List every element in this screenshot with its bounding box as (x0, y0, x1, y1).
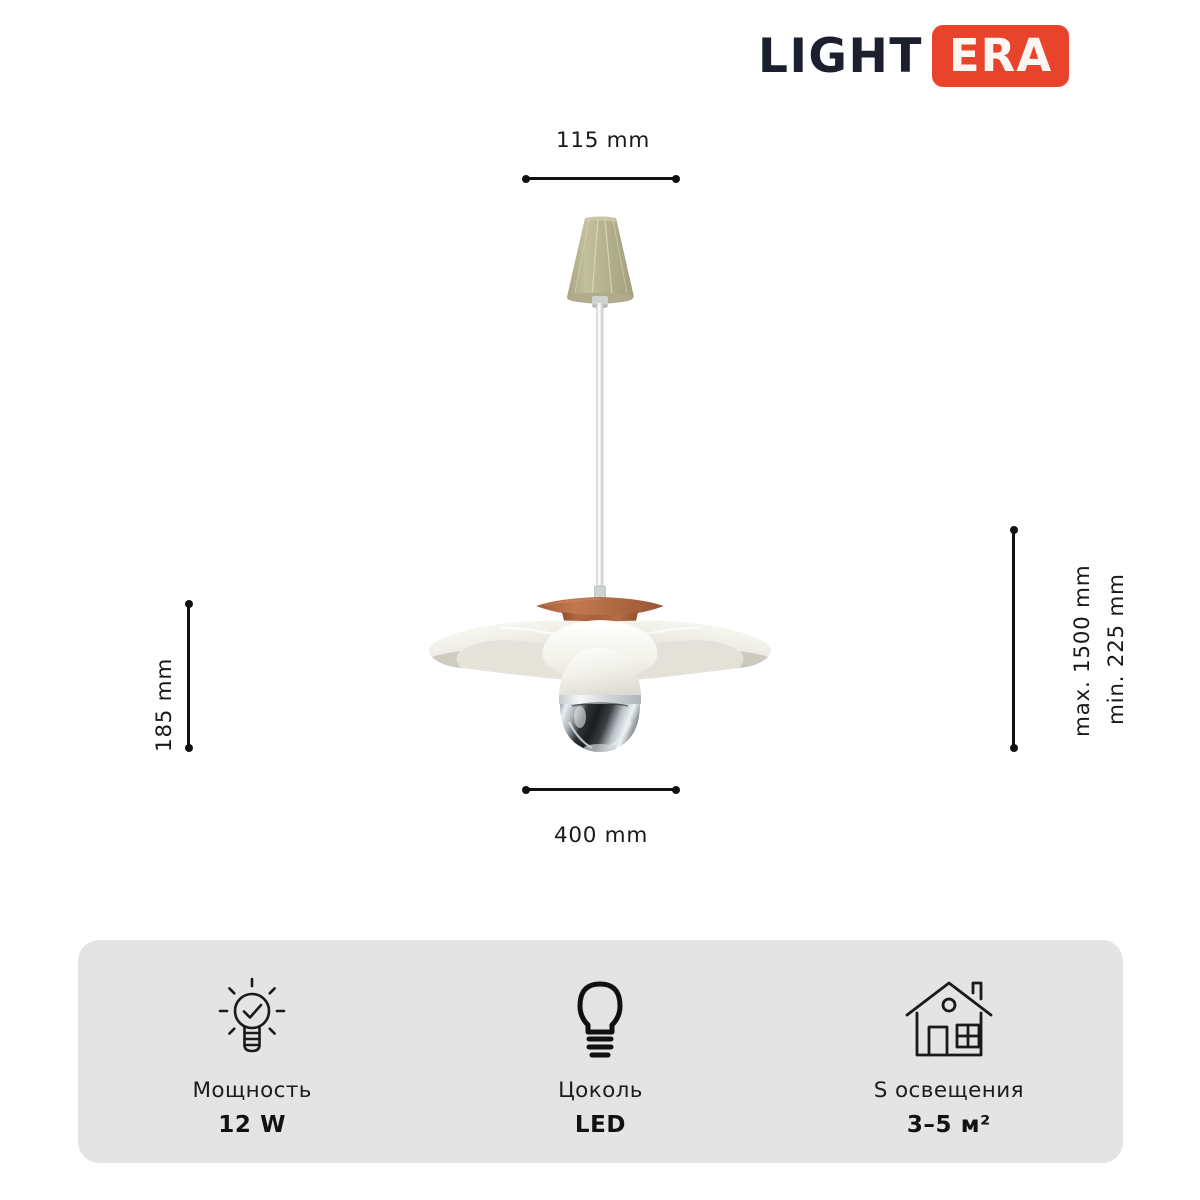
spec-name-power: Мощность (192, 1078, 311, 1103)
house-icon (901, 976, 997, 1066)
brand-logo-era-badge: ERA (932, 25, 1069, 87)
spec-value-socket: LED (575, 1112, 626, 1138)
brand-logo-light-text: LIGHT (758, 33, 932, 80)
lamp-shade-left-wing (429, 621, 600, 681)
chrome-bulb (559, 648, 641, 752)
dimension-line-left-height (187, 601, 190, 751)
spec-name-area: S освещения (874, 1078, 1024, 1103)
dimension-label-right-max: max. 1500 mm (1070, 565, 1095, 737)
lamp-shade-right-wing (600, 621, 771, 681)
dimension-label-right-min: min. 225 mm (1104, 573, 1129, 725)
brand-logo: LIGHT ERA (758, 25, 1069, 87)
dimension-label-bottom-width: 400 mm (554, 823, 648, 848)
dimension-label-left-height: 185 mm (152, 658, 177, 752)
spec-item-power: Мощность 12 W (78, 966, 426, 1138)
dimension-line-right-height (1012, 527, 1015, 751)
dimension-label-top-width: 115 mm (556, 128, 650, 153)
brand-logo-era-text: ERA (949, 33, 1052, 78)
dimension-line-bottom-width (523, 788, 679, 791)
terracotta-disc (536, 597, 664, 645)
spec-item-socket: Цоколь LED (426, 966, 774, 1138)
spec-value-power: 12 W (218, 1112, 286, 1138)
spec-name-socket: Цоколь (558, 1078, 643, 1103)
specifications-panel: Мощность 12 W Цоколь LED (78, 940, 1123, 1163)
bulb-check-icon (208, 976, 296, 1066)
ceiling-canopy (567, 217, 634, 309)
bulb-icon (556, 976, 644, 1066)
suspension-rod (595, 303, 606, 601)
dimension-line-top-width (523, 177, 679, 180)
product-spec-page: LIGHT ERA (0, 0, 1200, 1200)
spec-item-area: S освещения 3–5 м² (775, 966, 1123, 1138)
spec-value-area: 3–5 м² (907, 1112, 991, 1138)
lamp-shade-center (542, 620, 657, 681)
